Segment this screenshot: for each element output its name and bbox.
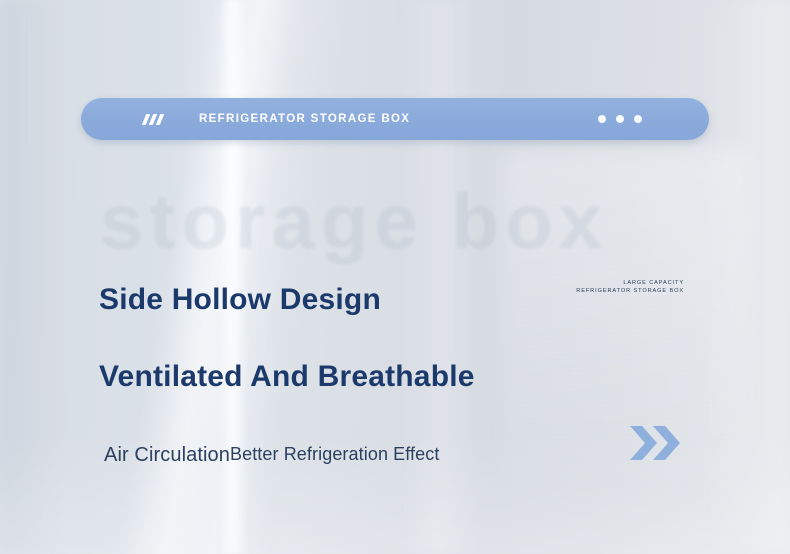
background-streak-right: [700, 0, 790, 554]
product-label-block: LARGE CAPACITY REFRIGERATOR STORAGE BOX: [576, 279, 684, 295]
subtitle-group: Air CirculationBetter Refrigeration Effe…: [104, 444, 439, 467]
headline-primary: Side Hollow Design: [99, 283, 381, 317]
top-banner-bar: REFRIGERATOR STORAGE BOX: [81, 98, 709, 140]
background-watermark-text: storage box: [100, 182, 700, 260]
subtitle-primary-text: Air Circulation: [104, 444, 230, 466]
background-streak-left: [0, 0, 60, 554]
dot-icon-1: [598, 115, 606, 123]
slash-mark-3: [156, 114, 164, 125]
three-slashes-icon: [144, 114, 162, 125]
promo-banner-page: storage box REFRIGERATOR STORAGE BOX Sid…: [0, 0, 790, 554]
background-streak-mid: [400, 0, 480, 554]
background-streak-highlight: [218, 0, 248, 554]
banner-dots-group: [598, 115, 642, 123]
chevron-right-icon-1: [630, 426, 657, 460]
banner-title: REFRIGERATOR STORAGE BOX: [199, 113, 410, 125]
product-label-line-2: REFRIGERATOR STORAGE BOX: [576, 287, 684, 295]
product-silhouette: [500, 150, 750, 480]
product-label-line-1: LARGE CAPACITY: [576, 279, 684, 287]
dot-icon-3: [634, 115, 642, 123]
chevron-right-icon-2: [653, 426, 680, 460]
subtitle-secondary-text: Better Refrigeration Effect: [230, 444, 439, 464]
dot-icon-2: [616, 115, 624, 123]
chevron-arrows-icon: [629, 424, 685, 462]
headline-secondary: Ventilated And Breathable: [99, 360, 475, 394]
